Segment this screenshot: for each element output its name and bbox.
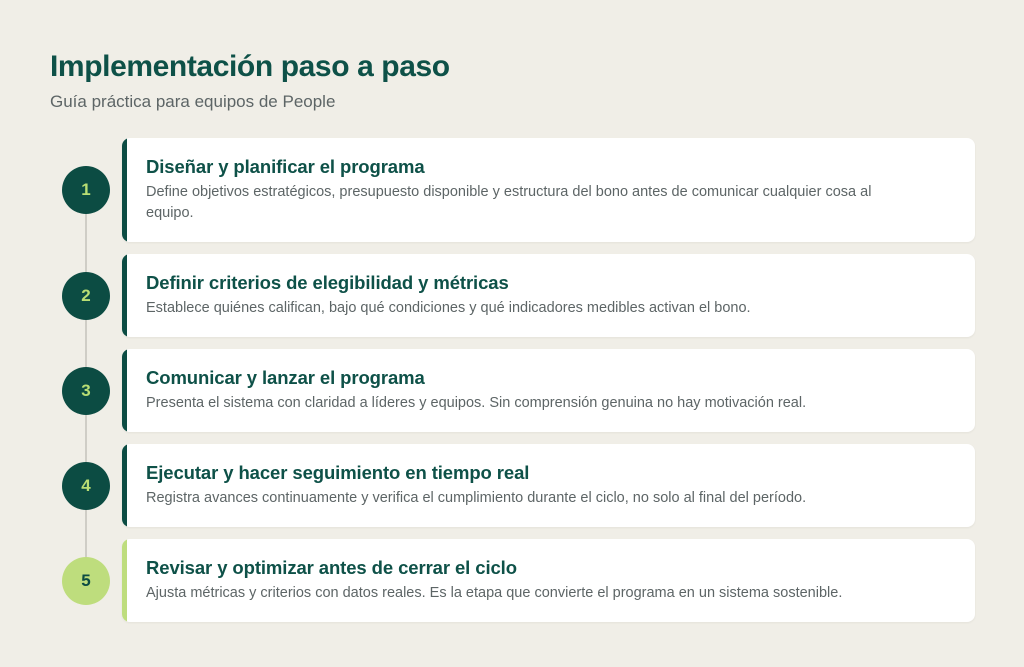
step-title: Diseñar y planificar el programa <box>146 154 953 179</box>
step-description: Registra avances continuamente y verific… <box>146 488 906 509</box>
step-description: Establece quiénes califican, bajo qué co… <box>146 298 906 319</box>
step-card[interactable]: Comunicar y lanzar el programaPresenta e… <box>122 349 975 432</box>
step-rail: 1 <box>50 138 122 242</box>
step-card[interactable]: Revisar y optimizar antes de cerrar el c… <box>122 539 975 622</box>
step-item[interactable]: 2Definir criterios de elegibilidad y mét… <box>50 254 975 337</box>
step-item[interactable]: 4Ejecutar y hacer seguimiento en tiempo … <box>50 444 975 527</box>
infographic-page: Implementación paso a paso Guía práctica… <box>0 0 1024 667</box>
step-number-badge: 3 <box>62 367 110 415</box>
step-title: Revisar y optimizar antes de cerrar el c… <box>146 555 953 580</box>
step-rail: 4 <box>50 444 122 527</box>
step-title: Ejecutar y hacer seguimiento en tiempo r… <box>146 460 953 485</box>
step-accent-bar <box>122 539 127 622</box>
step-card[interactable]: Ejecutar y hacer seguimiento en tiempo r… <box>122 444 975 527</box>
step-connector-line <box>85 335 87 367</box>
step-rail: 2 <box>50 254 122 337</box>
step-title: Comunicar y lanzar el programa <box>146 365 953 390</box>
step-item[interactable]: 3Comunicar y lanzar el programaPresenta … <box>50 349 975 432</box>
step-number-badge: 2 <box>62 272 110 320</box>
step-card[interactable]: Definir criterios de elegibilidad y métr… <box>122 254 975 337</box>
page-title: Implementación paso a paso <box>50 48 950 86</box>
page-subtitle: Guía práctica para equipos de People <box>50 90 950 114</box>
step-number-badge: 4 <box>62 462 110 510</box>
steps-list: 1Diseñar y planificar el programaDefine … <box>50 138 975 622</box>
step-rail: 3 <box>50 349 122 432</box>
step-number-badge: 1 <box>62 166 110 214</box>
step-accent-bar <box>122 138 127 242</box>
step-title: Definir criterios de elegibilidad y métr… <box>146 270 953 295</box>
step-accent-bar <box>122 444 127 527</box>
step-card[interactable]: Diseñar y planificar el programaDefine o… <box>122 138 975 242</box>
step-description: Presenta el sistema con claridad a líder… <box>146 393 906 414</box>
step-description: Define objetivos estratégicos, presupues… <box>146 182 906 224</box>
step-accent-bar <box>122 254 127 337</box>
step-description: Ajusta métricas y criterios con datos re… <box>146 583 906 604</box>
step-accent-bar <box>122 349 127 432</box>
step-number-badge: 5 <box>62 557 110 605</box>
step-connector-line <box>85 240 87 272</box>
step-item[interactable]: 5Revisar y optimizar antes de cerrar el … <box>50 539 975 622</box>
step-item[interactable]: 1Diseñar y planificar el programaDefine … <box>50 138 975 242</box>
step-connector-line <box>85 430 87 462</box>
step-connector-line <box>85 525 87 557</box>
header: Implementación paso a paso Guía práctica… <box>50 48 950 114</box>
step-rail: 5 <box>50 539 122 622</box>
